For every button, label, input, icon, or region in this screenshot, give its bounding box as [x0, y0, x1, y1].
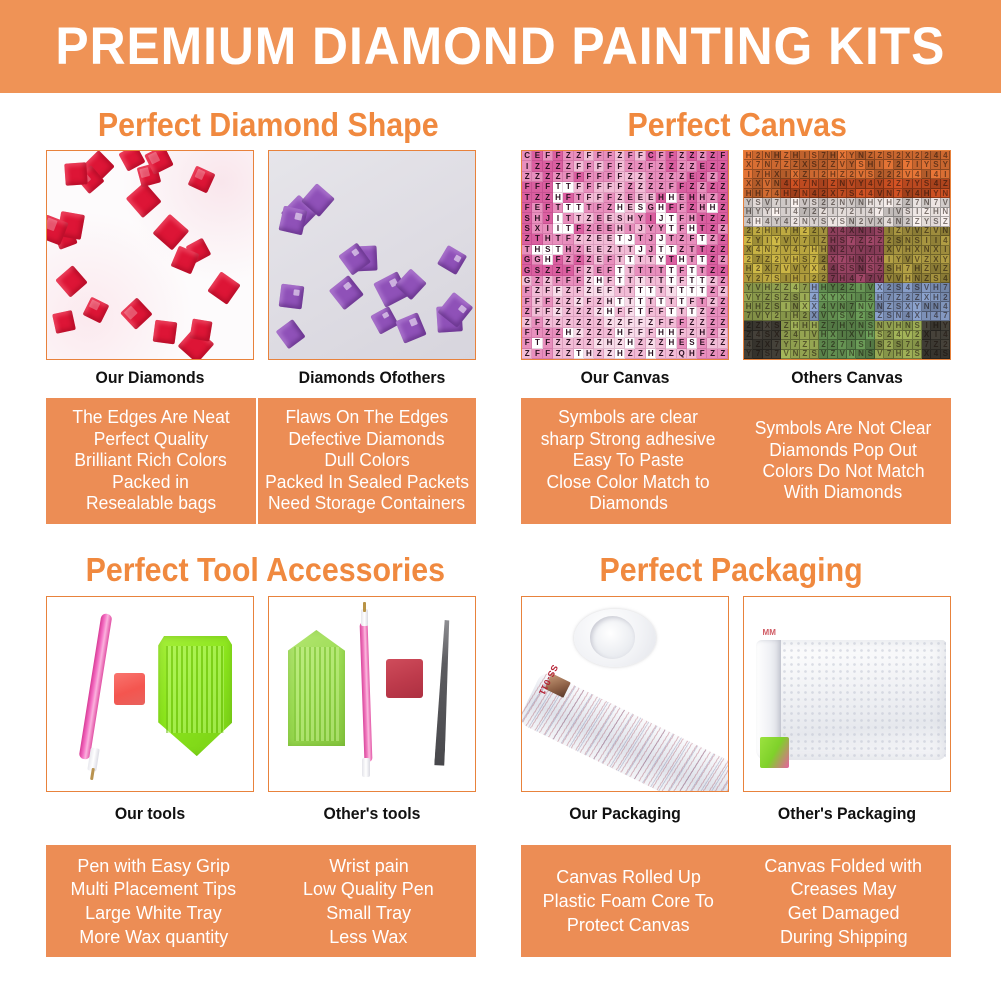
- canvas-symbol-cell: Z: [903, 198, 912, 207]
- diamond-drill: [190, 318, 213, 341]
- canvas-symbol-cell: 2: [753, 227, 762, 236]
- canvas-symbol-cell: N: [800, 217, 809, 226]
- canvas-symbol-cell: Z: [532, 276, 542, 286]
- canvas-symbol-cell: X: [828, 255, 837, 264]
- canvas-symbol-cell: S: [922, 179, 931, 188]
- canvas-symbol-cell: I: [856, 208, 865, 217]
- canvas-symbol-cell: T: [697, 297, 707, 307]
- canvas-symbol-cell: H: [810, 283, 819, 292]
- canvas-symbol-cell: 2: [922, 151, 931, 160]
- canvas-symbol-cell: Z: [697, 172, 707, 182]
- canvas-symbol-cell: V: [894, 208, 903, 217]
- canvas-symbol-cell: 4: [781, 217, 790, 226]
- canvas-symbol-cell: H: [594, 276, 604, 286]
- canvas-symbol-cell: Z: [800, 350, 809, 359]
- canvas-symbol-cell: F: [574, 182, 584, 192]
- canvas-symbol-cell: 4: [753, 246, 762, 255]
- canvas-symbol-cell: 4: [941, 236, 950, 245]
- canvas-symbol-cell: I: [522, 161, 532, 171]
- caption-others-tools: Other's tools: [275, 804, 468, 824]
- canvas-symbol-cell: 2: [810, 227, 819, 236]
- canvas-symbol-cell: Z: [677, 245, 687, 255]
- canvas-symbol-cell: F: [677, 182, 687, 192]
- canvas-symbol-cell: 4: [941, 274, 950, 283]
- canvas-symbol-cell: I: [922, 236, 931, 245]
- canvas-symbol-cell: Z: [635, 182, 645, 192]
- canvas-symbol-cell: 2: [894, 170, 903, 179]
- canvas-symbol-cell: I: [856, 293, 865, 302]
- canvas-symbol-cell: H: [866, 160, 875, 169]
- canvas-symbol-cell: T: [687, 265, 697, 275]
- canvas-symbol-cell: Z: [563, 317, 573, 327]
- canvas-symbol-cell: H: [744, 151, 753, 160]
- canvas-symbol-cell: H: [838, 274, 847, 283]
- canvas-symbol-cell: F: [604, 161, 614, 171]
- canvas-symbol-cell: 4: [753, 331, 762, 340]
- canvas-symbol-cell: N: [941, 227, 950, 236]
- canvas-symbol-cell: 7: [838, 208, 847, 217]
- canvas-symbol-cell: I: [772, 227, 781, 236]
- canvas-symbol-cell: Z: [781, 321, 790, 330]
- canvas-symbol-cell: H: [931, 283, 940, 292]
- canvas-symbol-cell: T: [574, 349, 584, 359]
- canvas-symbol-cell: N: [894, 217, 903, 226]
- canvas-symbol-cell: S: [838, 264, 847, 273]
- others-diamonds-feature-line: Defective Diamonds: [289, 429, 445, 450]
- canvas-symbol-cell: 2: [903, 293, 912, 302]
- canvas-symbol-cell: I: [553, 213, 563, 223]
- canvas-symbol-cell: T: [687, 276, 697, 286]
- canvas-symbol-cell: Z: [615, 151, 625, 161]
- canvas-symbol-cell: S: [931, 217, 940, 226]
- canvas-symbol-cell: H: [922, 189, 931, 198]
- canvas-symbol-cell: 7: [847, 236, 856, 245]
- canvas-symbol-cell: Z: [646, 338, 656, 348]
- canvas-symbol-cell: H: [744, 208, 753, 217]
- section-title-tools: Perfect Tool Accessories: [86, 551, 445, 589]
- canvas-symbol-cell: Z: [543, 328, 553, 338]
- canvas-symbol-cell: S: [894, 236, 903, 245]
- canvas-symbol-cell: T: [697, 234, 707, 244]
- canvas-symbol-cell: 7: [838, 340, 847, 349]
- canvas-symbol-cell: Z: [584, 234, 594, 244]
- canvas-symbol-cell: Z: [646, 172, 656, 182]
- canvas-symbol-cell: T: [697, 213, 707, 223]
- canvas-symbol-cell: X: [931, 246, 940, 255]
- canvas-symbol-cell: J: [656, 234, 666, 244]
- canvas-symbol-cell: Z: [563, 307, 573, 317]
- canvas-symbol-cell: H: [931, 293, 940, 302]
- canvas-symbol-cell: V: [875, 189, 884, 198]
- canvas-symbol-cell: T: [666, 213, 676, 223]
- canvas-symbol-cell: 7: [931, 198, 940, 207]
- canvas-symbol-cell: J: [635, 224, 645, 234]
- canvas-symbol-cell: 7: [903, 160, 912, 169]
- canvas-symbol-cell: S: [532, 265, 542, 275]
- canvas-symbol-cell: Z: [763, 293, 772, 302]
- canvas-symbol-cell: Z: [707, 317, 717, 327]
- canvas-symbol-cell: I: [866, 227, 875, 236]
- canvas-symbol-cell: N: [856, 264, 865, 273]
- canvas-symbol-cell: F: [563, 234, 573, 244]
- canvas-symbol-cell: 7: [800, 179, 809, 188]
- canvas-symbol-cell: F: [584, 172, 594, 182]
- canvas-symbol-cell: T: [615, 255, 625, 265]
- canvas-symbol-cell: T: [635, 276, 645, 286]
- canvas-symbol-cell: S: [931, 160, 940, 169]
- canvas-symbol-cell: H: [810, 321, 819, 330]
- canvas-symbol-cell: V: [763, 198, 772, 207]
- canvas-symbol-cell: H: [656, 328, 666, 338]
- canvas-symbol-cell: T: [635, 297, 645, 307]
- canvas-symbol-cell: Y: [635, 213, 645, 223]
- canvas-symbol-cell: 4: [819, 302, 828, 311]
- canvas-symbol-cell: N: [884, 189, 893, 198]
- canvas-symbol-cell: Y: [828, 293, 837, 302]
- canvas-symbol-cell: G: [532, 255, 542, 265]
- canvas-symbol-cell: 4: [791, 208, 800, 217]
- canvas-symbol-cell: Z: [543, 193, 553, 203]
- canvas-symbol-cell: H: [931, 321, 940, 330]
- canvas-symbol-cell: V: [753, 312, 762, 321]
- canvas-symbol-cell: F: [615, 182, 625, 192]
- canvas-symbol-cell: 7: [772, 340, 781, 349]
- canvas-symbol-cell: F: [615, 307, 625, 317]
- canvas-symbol-cell: F: [574, 286, 584, 296]
- canvas-symbol-cell: H: [791, 255, 800, 264]
- our-canvas-feature-line: sharp Strong adhesive: [541, 429, 716, 450]
- canvas-symbol-cell: I: [884, 227, 893, 236]
- pink-symbol-grid: CEFFZZFFFZFFCFFZZZZFIZZZZFFFFFZZFZZZZEZZ…: [522, 151, 728, 359]
- canvas-symbol-cell: Y: [646, 224, 656, 234]
- canvas-symbol-cell: G: [522, 276, 532, 286]
- canvas-symbol-cell: F: [666, 182, 676, 192]
- others-canvas-feature-line: Colors Do Not Match: [762, 461, 924, 482]
- canvas-symbol-cell: Y: [744, 274, 753, 283]
- canvas-symbol-cell: E: [594, 255, 604, 265]
- canvas-symbol-cell: Z: [594, 328, 604, 338]
- canvas-symbol-cell: Z: [875, 151, 884, 160]
- canvas-symbol-cell: 2: [894, 160, 903, 169]
- canvas-symbol-cell: F: [677, 213, 687, 223]
- canvas-symbol-cell: X: [772, 331, 781, 340]
- canvas-symbol-cell: H: [584, 349, 594, 359]
- canvas-symbol-cell: H: [553, 193, 563, 203]
- canvas-symbol-cell: Z: [604, 328, 614, 338]
- canvas-symbol-cell: Y: [656, 224, 666, 234]
- canvas-symbol-cell: Z: [563, 338, 573, 348]
- canvas-symbol-cell: F: [532, 307, 542, 317]
- canvas-symbol-cell: Z: [894, 227, 903, 236]
- canvas-symbol-cell: 4: [884, 217, 893, 226]
- section-title-diamond-shape: Perfect Diamond Shape: [98, 106, 439, 144]
- canvas-symbol-cell: V: [781, 236, 790, 245]
- canvas-symbol-cell: Y: [913, 179, 922, 188]
- canvas-symbol-cell: T: [687, 286, 697, 296]
- our-canvas-feature-line: Easy To Paste: [573, 450, 684, 471]
- canvas-symbol-cell: F: [553, 286, 563, 296]
- canvas-symbol-cell: Y: [847, 246, 856, 255]
- canvas-symbol-cell: H: [903, 274, 912, 283]
- canvas-symbol-cell: V: [903, 170, 912, 179]
- canvas-symbol-cell: F: [532, 317, 542, 327]
- canvas-symbol-cell: V: [828, 312, 837, 321]
- canvas-symbol-cell: 2: [838, 246, 847, 255]
- canvas-symbol-cell: H: [666, 338, 676, 348]
- canvas-symbol-cell: X: [875, 283, 884, 292]
- canvas-symbol-cell: 7: [894, 189, 903, 198]
- canvas-symbol-cell: T: [553, 245, 563, 255]
- our-diamonds-feature-line: Packed in: [113, 472, 190, 493]
- diamond-drill: [208, 272, 241, 305]
- canvas-symbol-cell: Z: [707, 265, 717, 275]
- canvas-symbol-cell: 2: [772, 312, 781, 321]
- canvas-symbol-cell: 7: [753, 350, 762, 359]
- canvas-symbol-cell: I: [810, 236, 819, 245]
- our-canvas-feature-list: Symbols are clearsharp Strong adhesiveEa…: [521, 398, 736, 524]
- canvas-symbol-cell: Z: [856, 236, 865, 245]
- canvas-symbol-cell: 2: [884, 283, 893, 292]
- canvas-symbol-cell: 2: [753, 151, 762, 160]
- canvas-symbol-cell: Z: [563, 297, 573, 307]
- canvas-symbol-cell: 4: [866, 208, 875, 217]
- canvas-symbol-cell: T: [666, 265, 676, 275]
- canvas-symbol-cell: S: [810, 160, 819, 169]
- canvas-symbol-cell: Z: [646, 317, 656, 327]
- canvas-symbol-cell: H: [875, 255, 884, 264]
- canvas-symbol-cell: F: [635, 317, 645, 327]
- canvas-symbol-cell: Z: [707, 328, 717, 338]
- canvas-symbol-cell: E: [625, 203, 635, 213]
- canvas-symbol-cell: V: [875, 179, 884, 188]
- canvas-symbol-cell: Z: [707, 338, 717, 348]
- canvas-symbol-cell: Z: [656, 338, 666, 348]
- canvas-symbol-cell: X: [791, 179, 800, 188]
- canvas-symbol-cell: Z: [563, 349, 573, 359]
- canvas-symbol-cell: I: [922, 321, 931, 330]
- canvas-symbol-cell: I: [810, 340, 819, 349]
- canvas-symbol-cell: N: [856, 198, 865, 207]
- others-packaging-feature-line: Get Damaged: [788, 901, 900, 925]
- canvas-symbol-cell: Z: [604, 245, 614, 255]
- canvas-symbol-cell: H: [707, 203, 717, 213]
- canvas-symbol-cell: V: [763, 179, 772, 188]
- canvas-symbol-cell: Z: [522, 307, 532, 317]
- canvas-symbol-cell: H: [763, 283, 772, 292]
- canvas-symbol-cell: 4: [819, 264, 828, 273]
- canvas-symbol-cell: X: [810, 312, 819, 321]
- canvas-symbol-cell: N: [856, 350, 865, 359]
- canvas-symbol-cell: H: [697, 193, 707, 203]
- canvas-symbol-cell: X: [753, 179, 762, 188]
- canvas-symbol-cell: V: [781, 264, 790, 273]
- canvas-symbol-cell: T: [666, 255, 676, 265]
- canvas-symbol-cell: T: [687, 245, 697, 255]
- caption-others-packaging: Other's Packaging: [750, 804, 943, 824]
- diamond-shape-comparison-panel: The Edges Are NeatPerfect QualityBrillia…: [46, 398, 476, 524]
- canvas-symbol-cell: F: [604, 193, 614, 203]
- canvas-symbol-cell: N: [763, 246, 772, 255]
- canvas-symbol-cell: Z: [913, 293, 922, 302]
- canvas-symbol-cell: 4: [847, 274, 856, 283]
- canvas-symbol-cell: H: [604, 307, 614, 317]
- canvas-symbol-cell: Y: [763, 208, 772, 217]
- canvas-symbol-cell: T: [635, 255, 645, 265]
- canvas-symbol-cell: Z: [772, 283, 781, 292]
- tube-cap-cone: [590, 616, 635, 659]
- canvas-symbol-cell: H: [828, 236, 837, 245]
- canvas-symbol-cell: H: [625, 338, 635, 348]
- canvas-symbol-cell: Y: [753, 293, 762, 302]
- canvas-symbol-cell: Y: [800, 264, 809, 273]
- canvas-symbol-cell: E: [687, 172, 697, 182]
- canvas-symbol-cell: N: [894, 312, 903, 321]
- canvas-symbol-cell: 4: [866, 189, 875, 198]
- canvas-symbol-cell: F: [522, 328, 532, 338]
- canvas-symbol-cell: F: [543, 349, 553, 359]
- others-tools-feature-line: Small Tray: [326, 901, 411, 925]
- our-diamonds-feature-line: The Edges Are Neat: [72, 407, 229, 428]
- canvas-symbol-cell: 7: [800, 208, 809, 217]
- canvas-symbol-cell: S: [856, 340, 865, 349]
- canvas-symbol-cell: Z: [941, 179, 950, 188]
- canvas-symbol-cell: Z: [707, 307, 717, 317]
- canvas-symbol-cell: F: [594, 203, 604, 213]
- canvas-symbol-cell: Z: [646, 182, 656, 192]
- canvas-symbol-cell: 4: [744, 217, 753, 226]
- canvas-symbol-cell: Z: [574, 234, 584, 244]
- canvas-symbol-cell: T: [625, 297, 635, 307]
- others-canvas-feature-line: Diamonds Pop Out: [770, 440, 918, 461]
- canvas-symbol-cell: Z: [718, 286, 728, 296]
- canvas-symbol-cell: 7: [791, 340, 800, 349]
- canvas-symbol-cell: 2: [791, 217, 800, 226]
- canvas-symbol-cell: F: [656, 151, 666, 161]
- canvas-symbol-cell: T: [646, 286, 656, 296]
- canvas-symbol-cell: 2: [941, 340, 950, 349]
- canvas-symbol-cell: 7: [800, 246, 809, 255]
- canvas-symbol-cell: S: [838, 312, 847, 321]
- canvas-symbol-cell: Z: [522, 349, 532, 359]
- canvas-symbol-cell: 7: [838, 255, 847, 264]
- canvas-symbol-cell: N: [838, 179, 847, 188]
- canvas-symbol-cell: I: [838, 331, 847, 340]
- canvas-symbol-cell: Z: [574, 255, 584, 265]
- canvas-symbol-cell: H: [687, 349, 697, 359]
- canvas-symbol-cell: T: [656, 297, 666, 307]
- canvas-symbol-cell: F: [677, 224, 687, 234]
- canvas-symbol-cell: 4: [791, 283, 800, 292]
- canvas-symbol-cell: 2: [819, 160, 828, 169]
- canvas-symbol-cell: 4: [941, 302, 950, 311]
- canvas-symbol-cell: F: [646, 328, 656, 338]
- canvas-symbol-cell: Z: [584, 307, 594, 317]
- canvas-symbol-cell: F: [574, 265, 584, 275]
- canvas-symbol-cell: Y: [922, 217, 931, 226]
- canvas-symbol-cell: E: [532, 203, 542, 213]
- canvas-symbol-cell: T: [635, 286, 645, 296]
- canvas-symbol-cell: F: [584, 161, 594, 171]
- canvas-symbol-cell: S: [856, 160, 865, 169]
- diamond-drill: [370, 306, 398, 334]
- canvas-symbol-cell: Z: [884, 302, 893, 311]
- canvas-symbol-cell: 2: [819, 170, 828, 179]
- pen-tip: [363, 602, 366, 612]
- canvas-symbol-cell: X: [903, 151, 912, 160]
- diamond-drill: [187, 165, 215, 193]
- others-tools-feature-list: Wrist painLow Quality PenSmall TrayLess …: [261, 845, 476, 957]
- canvas-symbol-cell: V: [744, 293, 753, 302]
- canvas-symbol-cell: I: [781, 170, 790, 179]
- canvas-symbol-cell: S: [763, 331, 772, 340]
- canvas-symbol-cell: F: [625, 317, 635, 327]
- canvas-symbol-cell: Z: [707, 224, 717, 234]
- canvas-symbol-cell: V: [913, 227, 922, 236]
- diamond-drill: [64, 162, 87, 185]
- canvas-symbol-cell: F: [625, 307, 635, 317]
- canvas-symbol-cell: X: [763, 321, 772, 330]
- canvas-symbol-cell: F: [574, 161, 584, 171]
- canvas-symbol-cell: Z: [718, 328, 728, 338]
- canvas-symbol-cell: Z: [707, 286, 717, 296]
- canvas-symbol-cell: Y: [931, 189, 940, 198]
- canvas-symbol-cell: T: [697, 245, 707, 255]
- canvas-symbol-cell: F: [584, 297, 594, 307]
- canvas-symbol-cell: H: [791, 312, 800, 321]
- pen-end-cap: [362, 758, 370, 777]
- canvas-symbol-cell: 2: [828, 198, 837, 207]
- canvas-symbol-cell: J: [635, 245, 645, 255]
- canvas-symbol-cell: I: [931, 331, 940, 340]
- canvas-symbol-cell: N: [922, 198, 931, 207]
- canvas-symbol-cell: N: [847, 350, 856, 359]
- canvas-symbol-cell: Z: [574, 297, 584, 307]
- canvas-symbol-cell: I: [543, 224, 553, 234]
- canvas-symbol-cell: T: [625, 265, 635, 275]
- canvas-symbol-cell: S: [687, 338, 697, 348]
- canvas-symbol-cell: Z: [894, 293, 903, 302]
- canvas-symbol-cell: Y: [894, 255, 903, 264]
- canvas-symbol-cell: T: [563, 182, 573, 192]
- canvas-symbol-cell: Z: [594, 338, 604, 348]
- canvas-symbol-cell: T: [615, 265, 625, 275]
- canvas-symbol-cell: F: [604, 286, 614, 296]
- canvas-symbol-cell: T: [656, 286, 666, 296]
- canvas-symbol-cell: F: [625, 151, 635, 161]
- canvas-symbol-cell: T: [697, 276, 707, 286]
- canvas-symbol-cell: N: [931, 302, 940, 311]
- canvas-symbol-cell: T: [615, 234, 625, 244]
- canvas-symbol-cell: S: [866, 312, 875, 321]
- canvas-symbol-cell: H: [646, 349, 656, 359]
- canvas-symbol-cell: 7: [828, 321, 837, 330]
- canvas-symbol-cell: Y: [781, 340, 790, 349]
- canvas-symbol-cell: V: [922, 283, 931, 292]
- canvas-symbol-cell: Z: [635, 161, 645, 171]
- canvas-symbol-cell: E: [635, 193, 645, 203]
- canvas-symbol-cell: 2: [819, 255, 828, 264]
- canvas-symbol-cell: 2: [744, 227, 753, 236]
- caption-our-packaging: Our Packaging: [528, 804, 721, 824]
- canvas-symbol-cell: X: [931, 255, 940, 264]
- canvas-symbol-cell: F: [532, 297, 542, 307]
- canvas-symbol-cell: Z: [553, 349, 563, 359]
- canvas-symbol-cell: F: [574, 276, 584, 286]
- canvas-symbol-cell: V: [866, 217, 875, 226]
- infographic-page: PREMIUM DIAMOND PAINTING KITS Perfect Di…: [0, 0, 1001, 1001]
- canvas-symbol-cell: S: [838, 217, 847, 226]
- canvas-symbol-cell: Z: [718, 276, 728, 286]
